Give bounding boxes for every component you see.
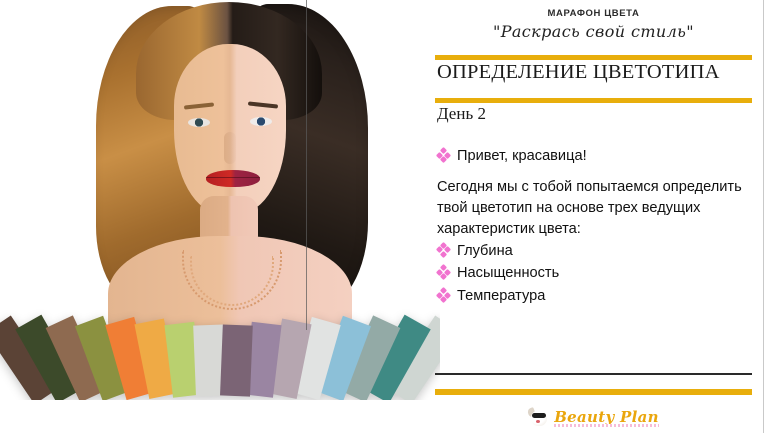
portrait-split-line — [306, 0, 307, 330]
lips — [206, 170, 260, 187]
footer-logo: Beauty Plan — [435, 402, 752, 432]
diamond-bullet-icon — [437, 265, 450, 280]
split-portrait-visual — [0, 0, 440, 400]
slide-canvas: МАРАФОН ЦВЕТА "Раскрась свой стиль" ОПРЕ… — [0, 0, 770, 433]
nose — [224, 132, 236, 164]
bullet-label: Глубина — [457, 241, 513, 262]
greeting-text: Привет, красавица! — [457, 146, 587, 167]
eye-right — [250, 117, 272, 126]
diamond-bullet-icon — [437, 243, 450, 258]
color-swatch — [220, 324, 253, 396]
divider-gold-top — [435, 55, 752, 60]
divider-dark-bottom — [435, 373, 752, 375]
day-label: День 2 — [437, 104, 486, 124]
dog-with-sunglasses-icon — [528, 406, 550, 428]
bullet-label: Насыщенность — [457, 263, 559, 284]
intro-paragraph: Сегодня мы с тобой попытаемся определить… — [437, 177, 753, 240]
bullet-label: Температура — [457, 286, 545, 307]
bullet-item-depth: Глубина — [437, 241, 757, 262]
face — [174, 44, 286, 214]
brand-underline — [554, 424, 659, 427]
slide-right-border — [763, 0, 764, 433]
kicker-text: МАРАФОН ЦВЕТА — [435, 8, 752, 19]
brand-name: Beauty Plan — [554, 408, 659, 426]
diamond-bullet-icon — [437, 148, 450, 163]
divider-gold-bottom — [435, 389, 752, 395]
eye-left — [188, 118, 210, 127]
greeting-row: Привет, красавица! — [437, 146, 757, 167]
content-panel: МАРАФОН ЦВЕТА "Раскрась свой стиль" ОПРЕ… — [435, 0, 765, 433]
page-title: ОПРЕДЕЛЕНИЕ ЦВЕТОТИПА — [437, 61, 752, 84]
bullet-item-temperature: Температура — [437, 286, 757, 307]
portrait-image — [78, 0, 378, 330]
body-content: Привет, красавица! Сегодня мы с тобой по… — [437, 146, 757, 309]
divider-gold-middle — [435, 98, 752, 103]
diamond-bullet-icon — [437, 288, 450, 303]
lip-line — [206, 177, 260, 178]
color-swatch-fan — [28, 286, 420, 396]
bullet-item-saturation: Насыщенность — [437, 263, 757, 284]
script-subtitle: "Раскрась свой стиль" — [435, 22, 752, 41]
